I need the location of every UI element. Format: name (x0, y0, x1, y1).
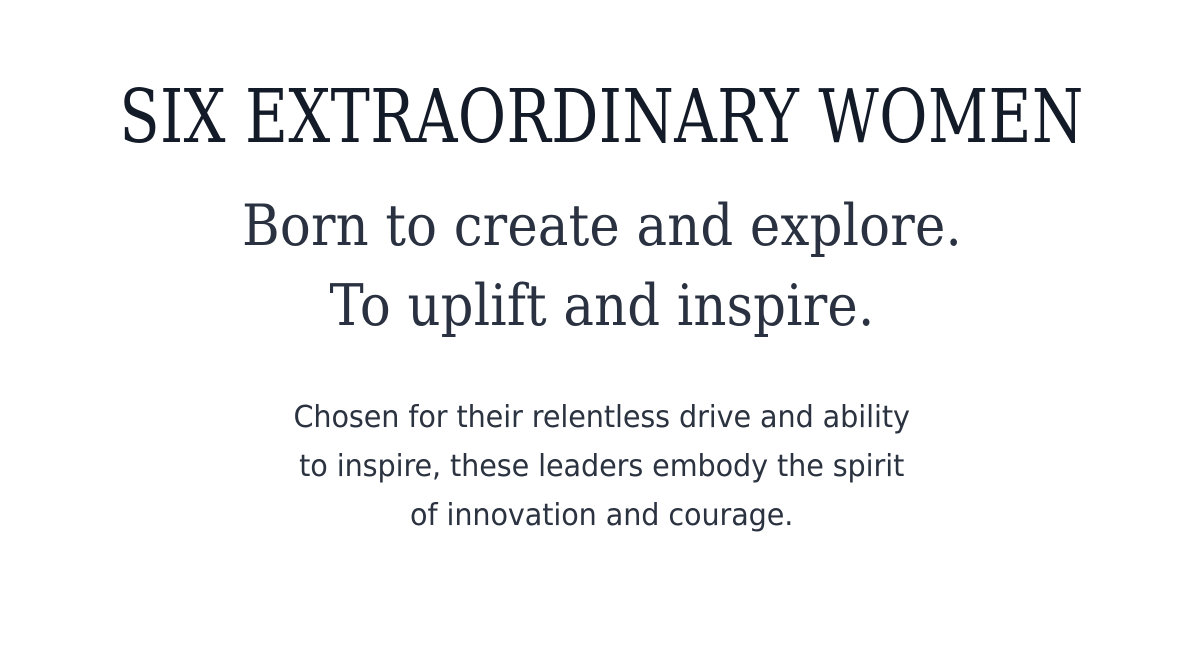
hero-subheading: Born to create and explore. To uplift an… (242, 186, 962, 346)
hero-section: SIX EXTRAORDINARY WOMEN Born to create a… (0, 0, 1204, 646)
page-title: SIX EXTRAORDINARY WOMEN (120, 74, 1084, 160)
hero-description-line-3: of innovation and courage. (294, 491, 910, 540)
hero-subheading-line-2: To uplift and inspire. (242, 266, 962, 346)
hero-description-line-1: Chosen for their relentless drive and ab… (294, 393, 910, 442)
hero-description-line-2: to inspire, these leaders embody the spi… (294, 442, 910, 491)
hero-subheading-line-1: Born to create and explore. (242, 186, 962, 266)
hero-description: Chosen for their relentless drive and ab… (294, 393, 910, 540)
